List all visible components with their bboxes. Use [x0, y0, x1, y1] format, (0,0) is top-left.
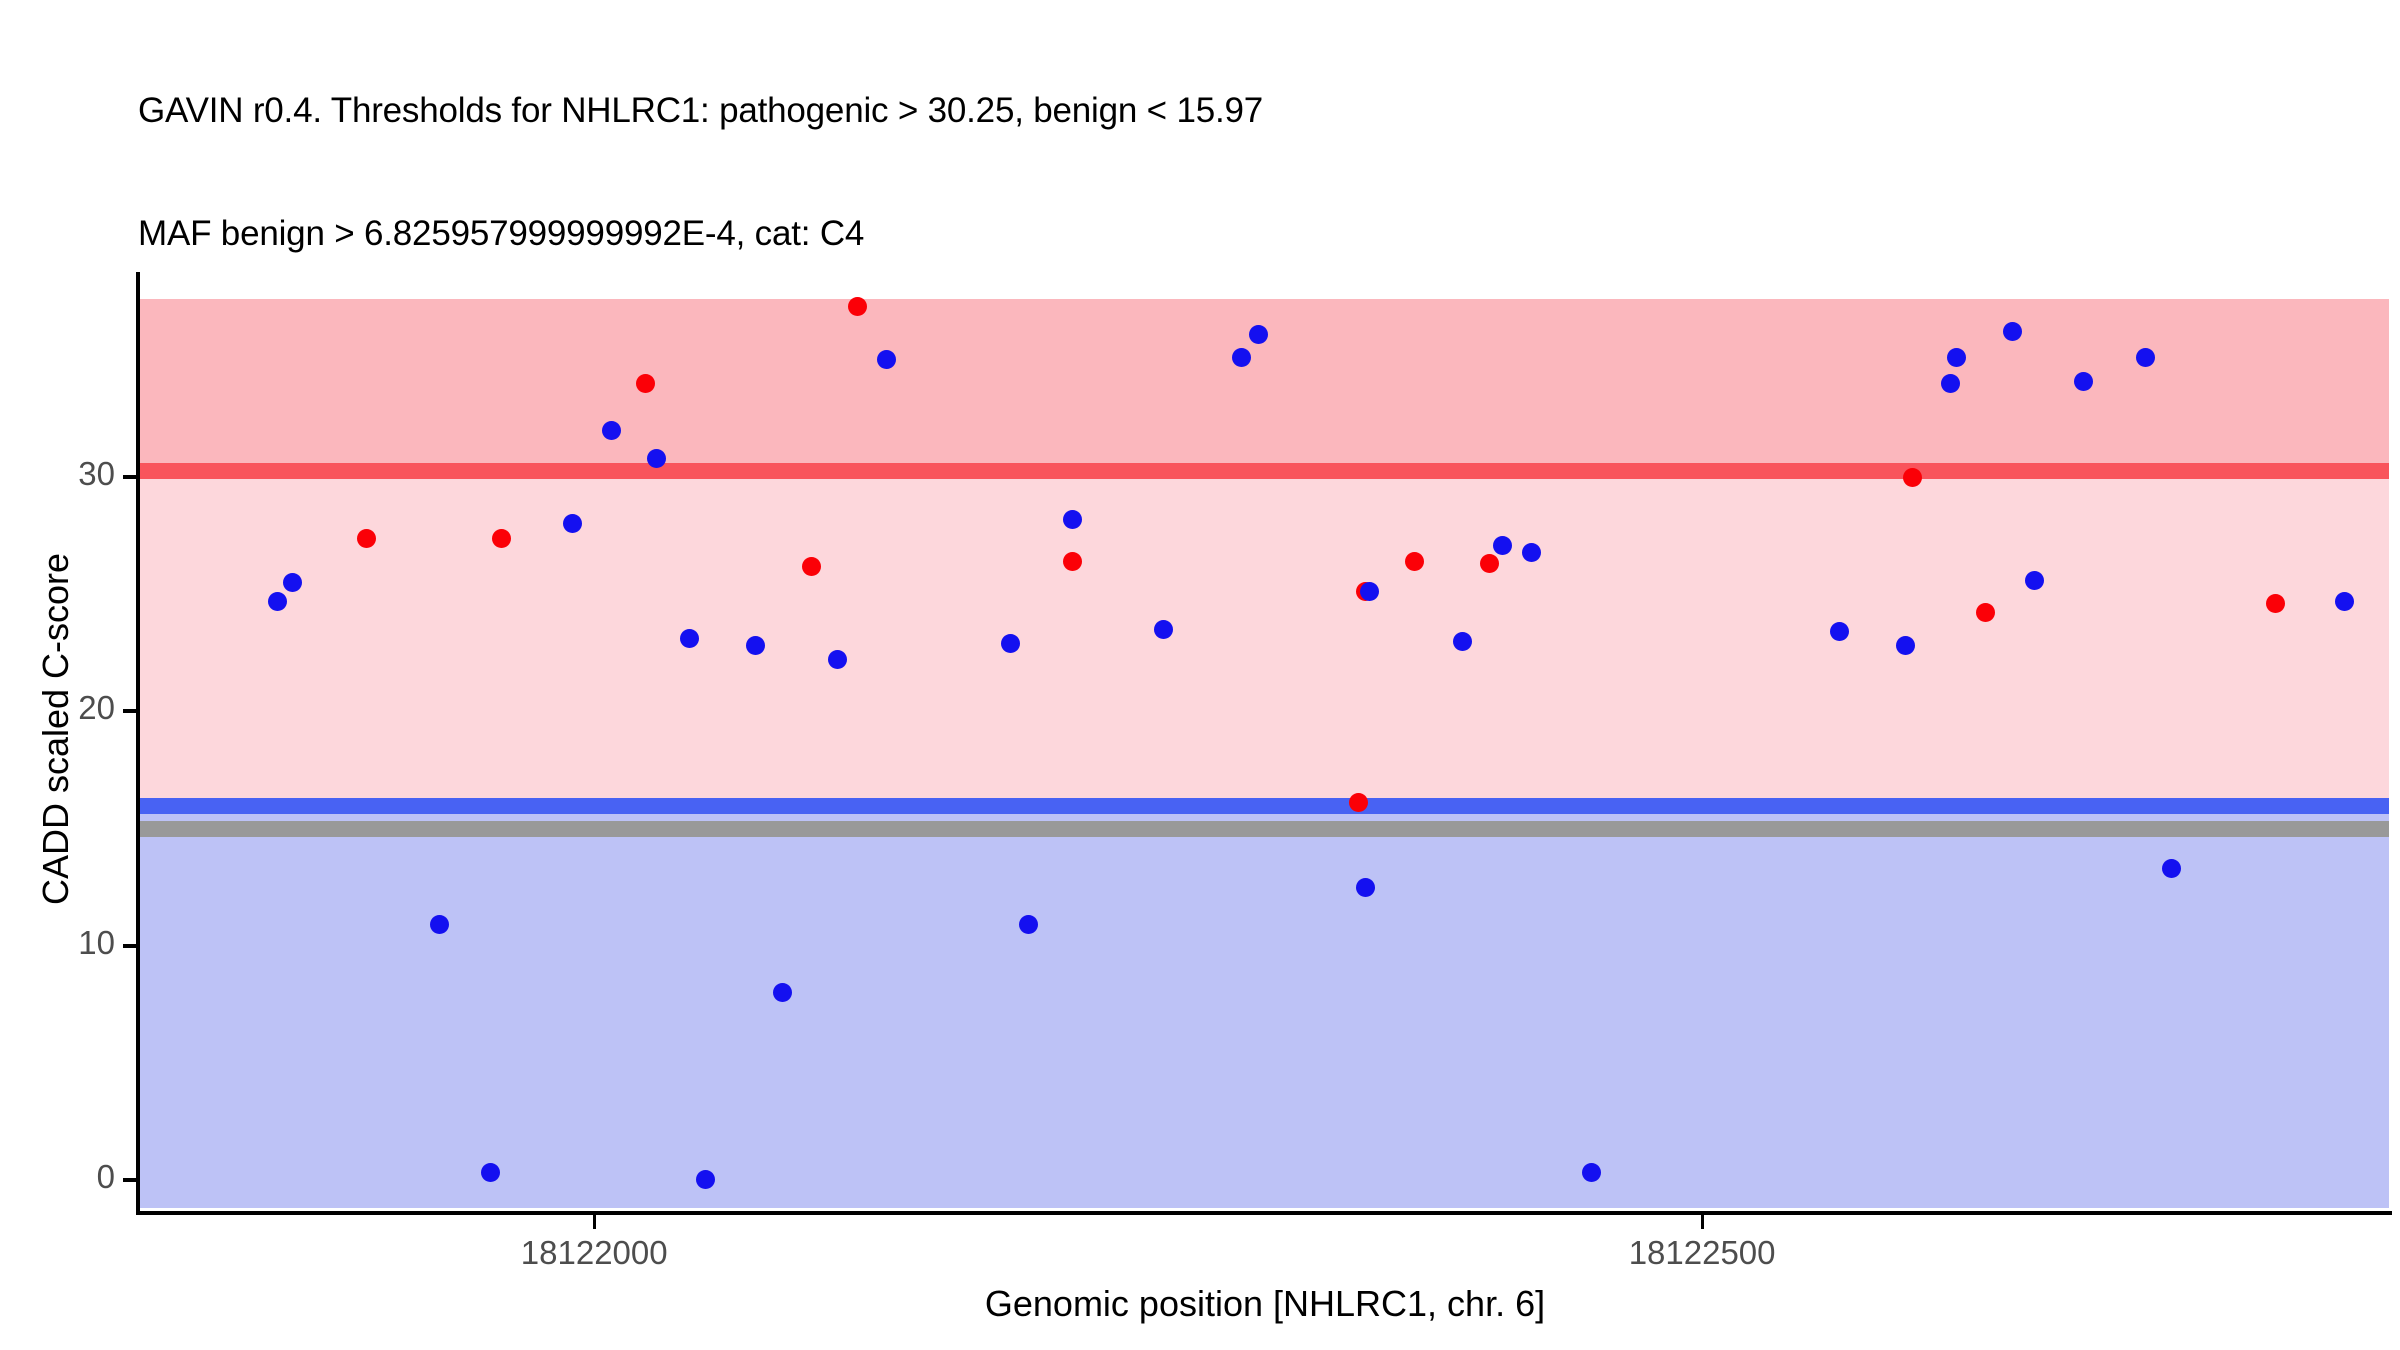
- y-tick-label: 10: [0, 924, 115, 962]
- y-tick-mark: [123, 944, 137, 948]
- y-tick-mark: [123, 709, 137, 713]
- y-tick-mark: [123, 475, 137, 479]
- y-axis-line: [136, 272, 140, 1214]
- band-vous: [140, 471, 2389, 806]
- gnomad-benign-point: [1453, 632, 1472, 651]
- y-tick-label: 0: [0, 1158, 115, 1196]
- gnomad-benign-point: [2074, 372, 2093, 391]
- gnomad-benign-point: [2335, 592, 2354, 611]
- clinvar-pathogenic-point: [848, 297, 867, 316]
- band-above-pathogenic-threshold: [140, 299, 2389, 471]
- y-tick-label: 30: [0, 455, 115, 493]
- gnomad-benign-point: [2025, 571, 2044, 590]
- x-tick-label: 18122000: [444, 1234, 744, 1272]
- clinvar-pathogenic-point: [802, 557, 821, 576]
- x-tick-mark: [1701, 1215, 1704, 1229]
- gnomad-benign-point: [430, 915, 449, 934]
- benign-threshold-line: [140, 798, 2389, 814]
- clinvar-pathogenic-point: [1903, 468, 1922, 487]
- gnomad-benign-point: [1522, 543, 1541, 562]
- y-axis-title: CADD scaled C-score: [30, 199, 82, 1259]
- gnomad-benign-point: [1232, 348, 1251, 367]
- y-tick-mark: [123, 1178, 137, 1182]
- gnomad-benign-point: [1063, 510, 1082, 529]
- clinvar-pathogenic-point: [1405, 552, 1424, 571]
- gnomad-benign-point: [773, 983, 792, 1002]
- gnomad-benign-point: [1941, 374, 1960, 393]
- chart-canvas: GAVIN r0.4. Thresholds for NHLRC1: patho…: [0, 0, 2400, 1350]
- genome-wide-fallback-threshold-line: [140, 821, 2389, 837]
- gnomad-benign-point: [1154, 620, 1173, 639]
- plot-panel: [140, 278, 2389, 1208]
- gnomad-benign-point: [1019, 915, 1038, 934]
- gnomad-benign-point: [268, 592, 287, 611]
- pathogenic-threshold-line: [140, 463, 2389, 479]
- clinvar-pathogenic-point: [636, 374, 655, 393]
- band-below-benign-threshold: [140, 806, 2389, 1208]
- y-tick-label: 20: [0, 689, 115, 727]
- gnomad-benign-point: [1493, 536, 1512, 555]
- gnomad-benign-point: [2136, 348, 2155, 367]
- x-axis-line: [136, 1211, 2392, 1215]
- clinvar-pathogenic-point: [492, 529, 511, 548]
- title-line-2: MAF benign > 6.825957999999992E-4, cat: …: [138, 213, 2238, 254]
- gnomad-benign-point: [481, 1163, 500, 1182]
- x-tick-label: 18122500: [1552, 1234, 1852, 1272]
- gnomad-benign-point: [1356, 878, 1375, 897]
- gnomad-benign-point: [647, 449, 666, 468]
- clinvar-pathogenic-point: [357, 529, 376, 548]
- x-axis-title: Genomic position [NHLRC1, chr. 6]: [140, 1283, 2390, 1325]
- title-line-1: GAVIN r0.4. Thresholds for NHLRC1: patho…: [138, 90, 2238, 131]
- gnomad-benign-point: [563, 514, 582, 533]
- x-tick-mark: [593, 1215, 596, 1229]
- gnomad-benign-point: [696, 1170, 715, 1189]
